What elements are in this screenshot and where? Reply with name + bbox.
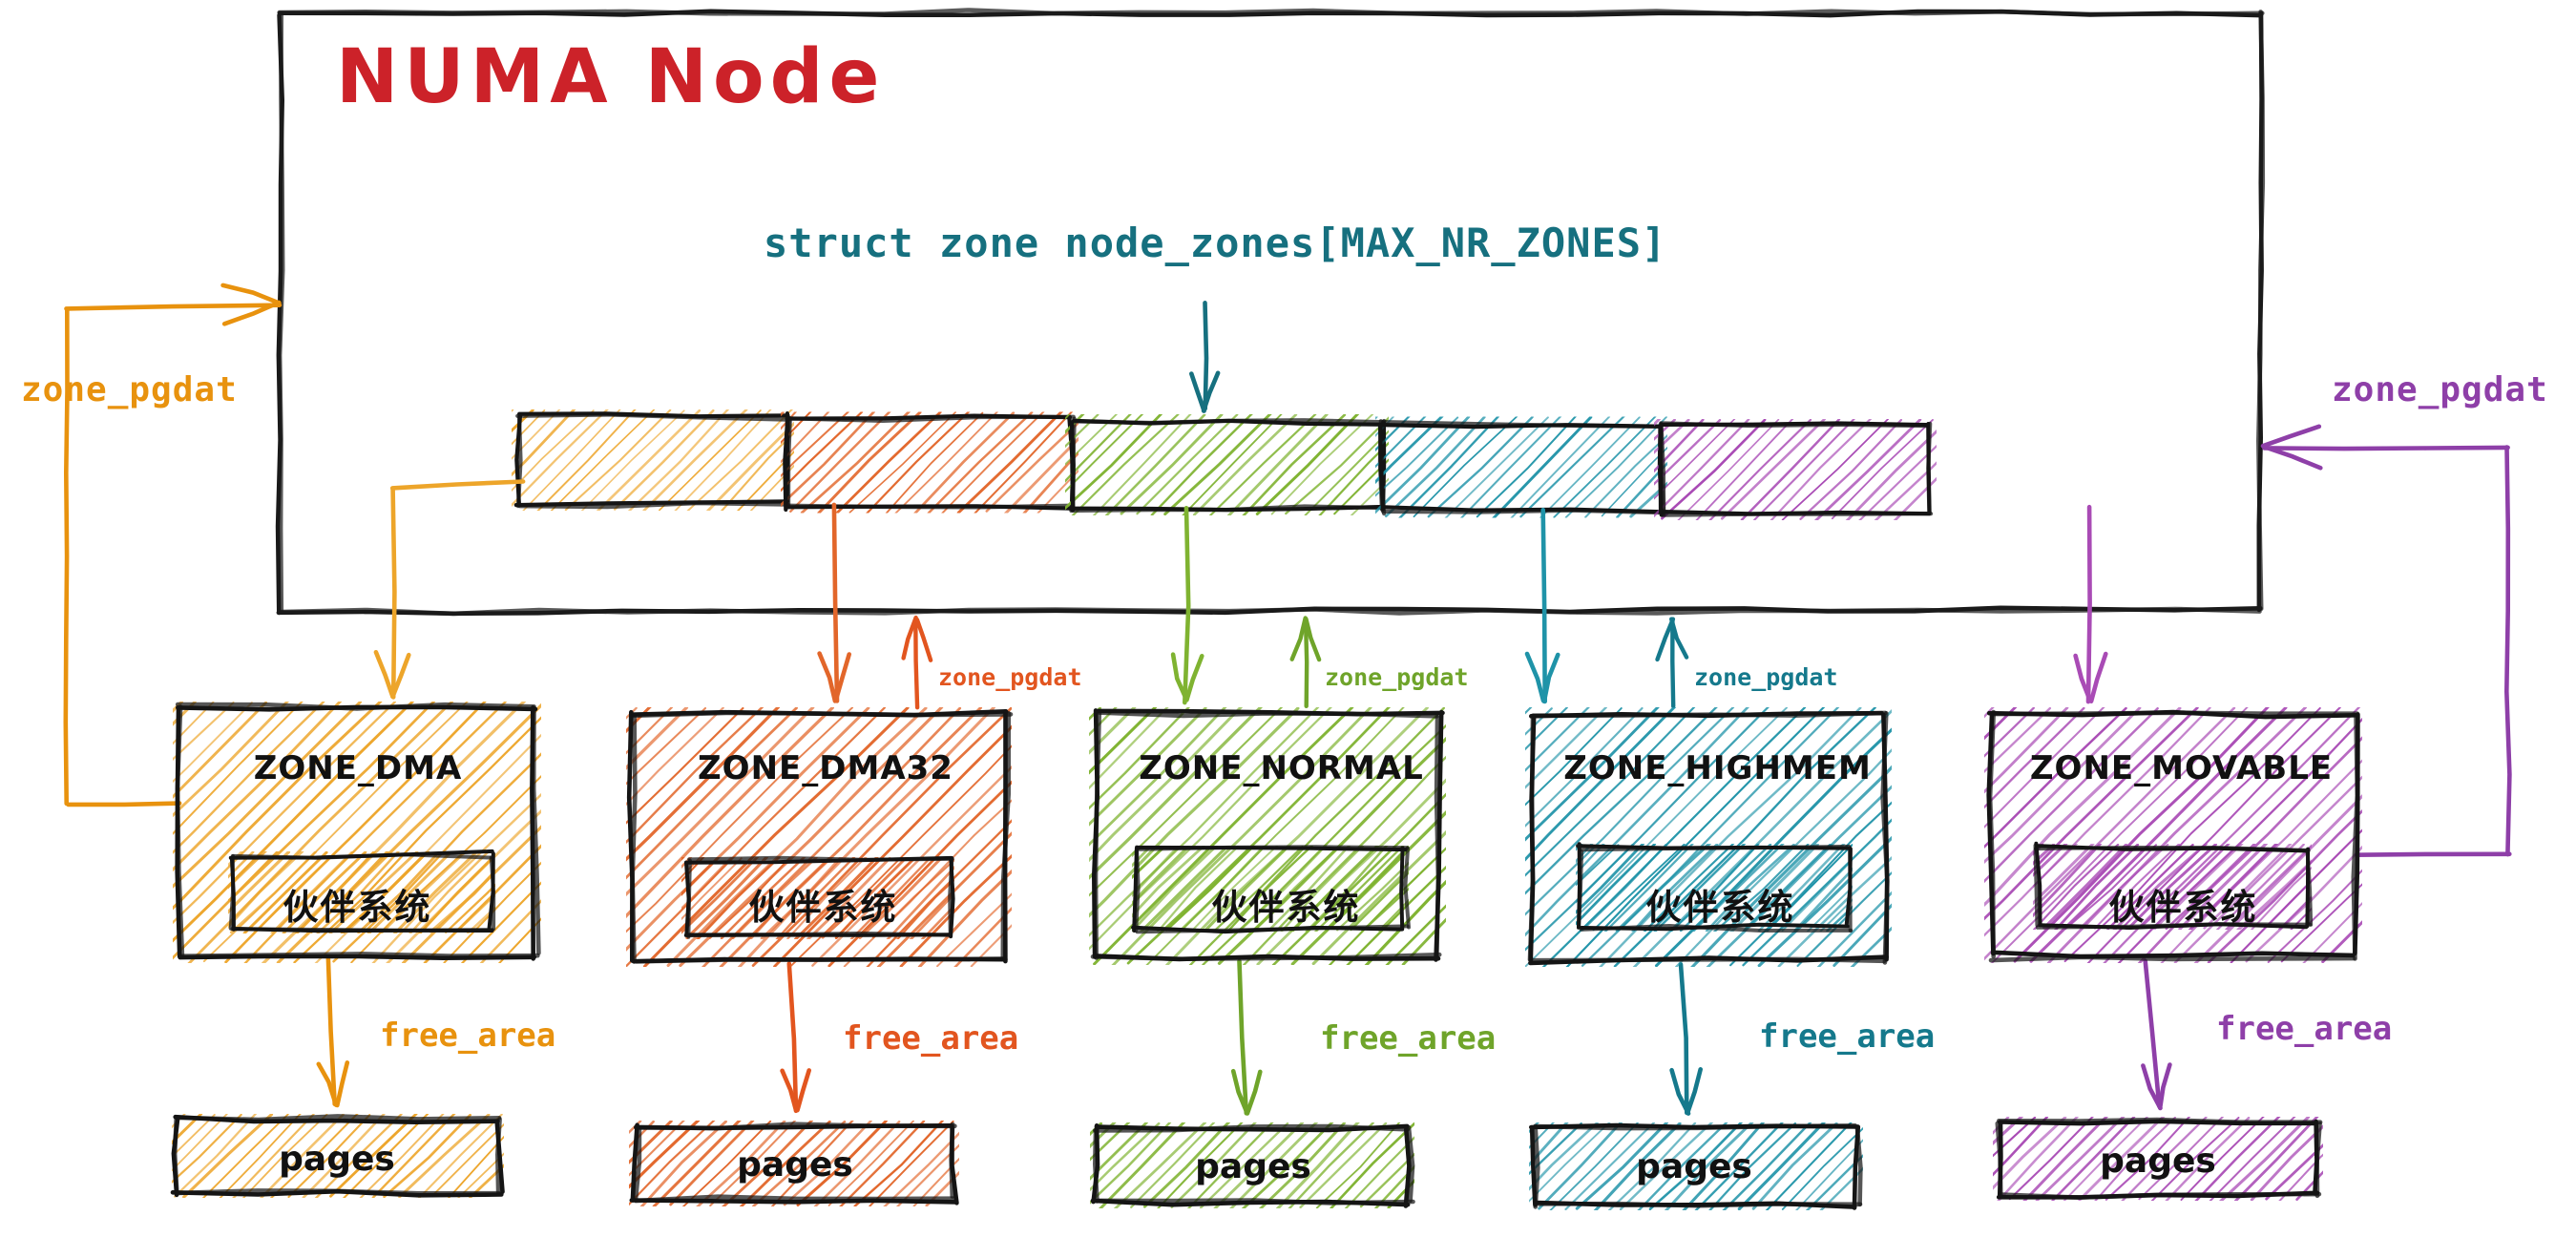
- pages-label-dma: pages: [179, 1140, 494, 1179]
- zone-pgdat-left-label: zone_pgdat: [21, 370, 238, 409]
- zone-label-movable: ZONE_MOVABLE: [1988, 749, 2375, 787]
- pages-label-highmem: pages: [1537, 1147, 1852, 1186]
- buddy-system-label-dma32: 伙伴系统: [654, 878, 993, 930]
- zone-pgdat-inline-label-normal: zone_pgdat: [1325, 663, 1469, 691]
- buddy-system-label-dma: 伙伴系统: [188, 878, 527, 930]
- node-zones-label: struct zone node_zones[MAX_NR_ZONES]: [764, 220, 1666, 266]
- pages-label-dma32: pages: [638, 1145, 953, 1185]
- diagram-canvas: NUMA Node struct zone node_zones[MAX_NR_…: [0, 0, 2576, 1237]
- arrow-layer: [66, 285, 2510, 1114]
- free-area-label-highmem: free_area: [1759, 1017, 1935, 1056]
- free-area-label-normal: free_area: [1320, 1019, 1496, 1058]
- pages-label-movable: pages: [2000, 1142, 2315, 1181]
- free-area-label-dma: free_area: [380, 1017, 555, 1055]
- pages-label-normal: pages: [1096, 1147, 1411, 1186]
- zone-label-highmem: ZONE_HIGHMEM: [1524, 749, 1911, 787]
- page-title: NUMA Node: [336, 34, 885, 120]
- zone-pgdat-inline-label-highmem: zone_pgdat: [1694, 663, 1838, 691]
- zone-pgdat-inline-label-dma32: zone_pgdat: [938, 663, 1082, 691]
- node-zones-array: [337, 409, 1994, 522]
- zone-pgdat-right-label: zone_pgdat: [2332, 370, 2548, 409]
- free-area-label-dma32: free_area: [843, 1019, 1018, 1058]
- buddy-system-label-highmem: 伙伴系统: [1551, 878, 1890, 930]
- zone-label-dma: ZONE_DMA: [181, 749, 534, 787]
- buddy-system-label-movable: 伙伴系统: [2014, 878, 2353, 930]
- buddy-system-label-normal: 伙伴系统: [1117, 878, 1456, 930]
- free-area-label-movable: free_area: [2216, 1010, 2392, 1048]
- zone-label-dma32: ZONE_DMA32: [630, 749, 1021, 787]
- zone-label-normal: ZONE_NORMAL: [1093, 749, 1470, 787]
